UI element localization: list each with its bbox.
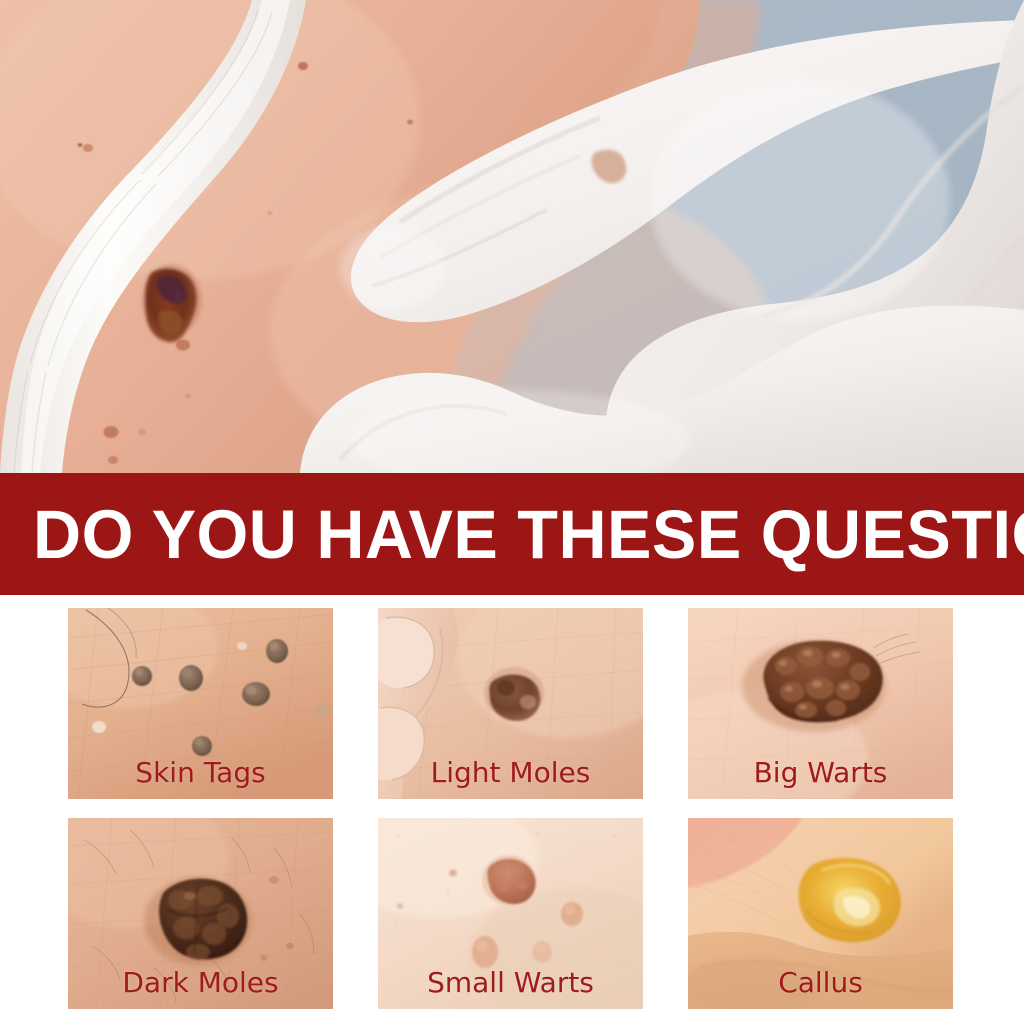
condition-card-dark-moles[interactable]: Dark Moles — [68, 818, 333, 1009]
condition-card-small-warts[interactable]: Small Warts — [378, 818, 643, 1009]
hero-illustration — [0, 0, 1024, 473]
big-warts-photo — [688, 608, 953, 799]
poster-root: DO YOU HAVE THESE QUESTIONS — [0, 0, 1024, 1024]
hero-image — [0, 0, 1024, 473]
dark-moles-photo — [68, 818, 333, 1009]
condition-grid: Skin Tags — [68, 608, 952, 1016]
condition-card-callus[interactable]: Callus — [688, 818, 953, 1009]
headline-banner: DO YOU HAVE THESE QUESTIONS — [0, 473, 1024, 595]
callus-photo — [688, 818, 953, 1009]
condition-card-big-warts[interactable]: Big Warts — [688, 608, 953, 799]
condition-card-light-moles[interactable]: Light Moles — [378, 608, 643, 799]
headline-text: DO YOU HAVE THESE QUESTIONS — [33, 500, 1024, 569]
skin-tags-photo — [68, 608, 333, 799]
light-moles-photo — [378, 608, 643, 799]
condition-card-skin-tags[interactable]: Skin Tags — [68, 608, 333, 799]
small-warts-photo — [378, 818, 643, 1009]
